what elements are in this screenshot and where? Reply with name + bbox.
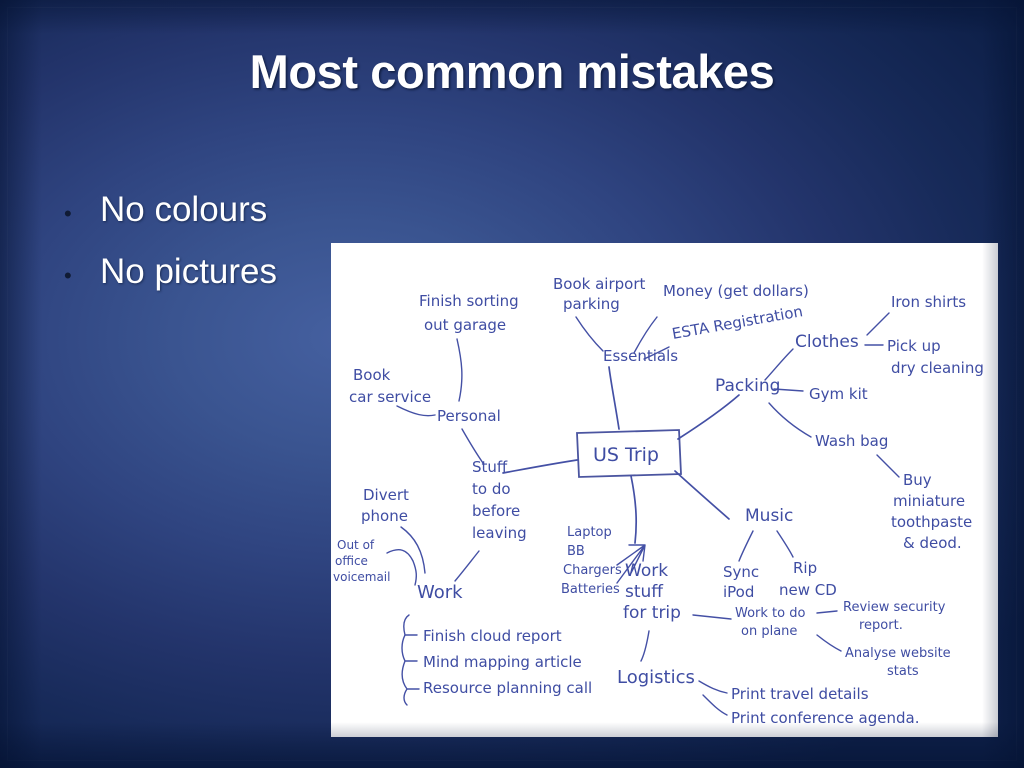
node-stuff: Stuff <box>472 458 508 476</box>
node-parking: parking <box>563 295 620 313</box>
mindmap-drawing: US Trip Finish sorting out garage Book c… <box>331 243 998 737</box>
node-resource-planning-call: Resource planning call <box>423 679 592 697</box>
node-gym-kit: Gym kit <box>809 385 868 403</box>
node-iron-shirts: Iron shirts <box>891 293 966 311</box>
branch-essentials <box>609 367 619 429</box>
bullet-label-no-colours: No colours <box>100 190 267 230</box>
node-before: before <box>472 502 520 520</box>
link-music-sync <box>739 531 753 561</box>
branch-work-stuff <box>631 476 636 543</box>
node-pick-up: Pick up <box>887 337 941 355</box>
work-list-bracket <box>402 615 419 705</box>
node-clothes: Clothes <box>795 332 859 352</box>
node-work-stuff: Work <box>625 561 668 581</box>
node-new-cd: new CD <box>779 581 837 599</box>
link-logistics-print-travel <box>699 681 727 693</box>
link-garage-personal <box>457 339 462 401</box>
node-chargers: Chargers <box>563 563 622 578</box>
link-workstuff-logistics <box>641 631 649 661</box>
link-airport-essentials <box>576 317 603 351</box>
node-out-garage: out garage <box>424 316 506 334</box>
node-batteries: Batteries <box>561 582 620 597</box>
node-rip: Rip <box>793 559 817 577</box>
link-packing-washbag <box>769 403 811 437</box>
node-toothpaste: toothpaste <box>891 513 972 531</box>
bullet-label-no-pictures: No pictures <box>100 252 277 292</box>
center-label: US Trip <box>593 444 659 466</box>
node-divert: Divert <box>363 486 409 504</box>
node-phone: phone <box>361 507 408 525</box>
node-analyse-website: Analyse website <box>845 646 951 661</box>
page-title: Most common mistakes <box>0 44 1024 99</box>
node-work-to-do: Work to do <box>735 606 805 621</box>
node-review-security: Review security <box>843 600 946 615</box>
node-book: Book <box>353 366 391 384</box>
node-office: office <box>335 554 368 568</box>
link-washbag-buy <box>877 455 899 477</box>
node-personal: Personal <box>437 407 501 425</box>
node-out-of: Out of <box>337 538 375 552</box>
node-work: Work <box>417 582 463 603</box>
node-book-airport: Book airport <box>553 275 645 293</box>
link-music-rip <box>777 531 793 557</box>
link-plane-analyse <box>817 635 841 651</box>
node-voicemail: voicemail <box>333 570 390 584</box>
branch-music <box>675 471 729 519</box>
node-work-stuff-2: stuff <box>625 582 664 602</box>
link-voicemail-work <box>387 550 416 585</box>
node-packing: Packing <box>715 376 780 396</box>
node-bb: BB <box>567 544 585 559</box>
node-stats: stats <box>887 664 919 679</box>
mindmap-image: US Trip Finish sorting out garage Book c… <box>331 243 998 737</box>
node-finish-cloud-report: Finish cloud report <box>423 627 562 645</box>
node-buy: Buy <box>903 471 932 489</box>
node-finish-sorting: Finish sorting <box>419 292 519 310</box>
node-on-plane: on plane <box>741 624 797 639</box>
node-print-conference-agenda: Print conference agenda. <box>731 709 919 727</box>
node-dry-cleaning: dry cleaning <box>891 359 984 377</box>
node-leaving: leaving <box>472 524 527 542</box>
link-plane-review <box>817 611 837 613</box>
node-deod: & deod. <box>903 534 962 552</box>
link-divert-work <box>401 527 425 573</box>
link-work-stufftodo <box>455 551 479 581</box>
node-wash-bag: Wash bag <box>815 432 888 450</box>
node-ipod: iPod <box>723 583 754 601</box>
node-miniature: miniature <box>893 492 965 510</box>
node-report: report. <box>859 618 903 633</box>
bullet-marker-icon: • <box>56 265 100 287</box>
branch-stuff-to-do <box>503 460 577 473</box>
mindmap-center-node: US Trip <box>577 430 681 477</box>
node-logistics: Logistics <box>617 667 695 688</box>
node-car-service: car service <box>349 388 431 406</box>
bullet-marker-icon: • <box>56 203 100 225</box>
node-laptop: Laptop <box>567 525 612 540</box>
branch-packing <box>678 395 739 439</box>
node-print-travel-details: Print travel details <box>731 685 869 703</box>
node-mindmapping-article: Mind mapping article <box>423 653 582 671</box>
node-to-do: to do <box>472 480 511 498</box>
node-music: Music <box>745 506 793 526</box>
node-work-stuff-3: for trip <box>623 603 681 623</box>
link-workstuff-plane <box>693 615 731 619</box>
presentation-slide: Most common mistakes • No colours • No p… <box>0 0 1024 768</box>
node-esta: ESTA Registration <box>671 302 805 343</box>
link-clothes-iron <box>867 313 889 335</box>
node-money: Money (get dollars) <box>663 282 809 300</box>
link-logistics-print-conf <box>703 695 727 715</box>
node-essentials: Essentials <box>603 347 678 365</box>
node-sync: Sync <box>723 563 759 581</box>
link-carservice-personal <box>397 406 435 416</box>
